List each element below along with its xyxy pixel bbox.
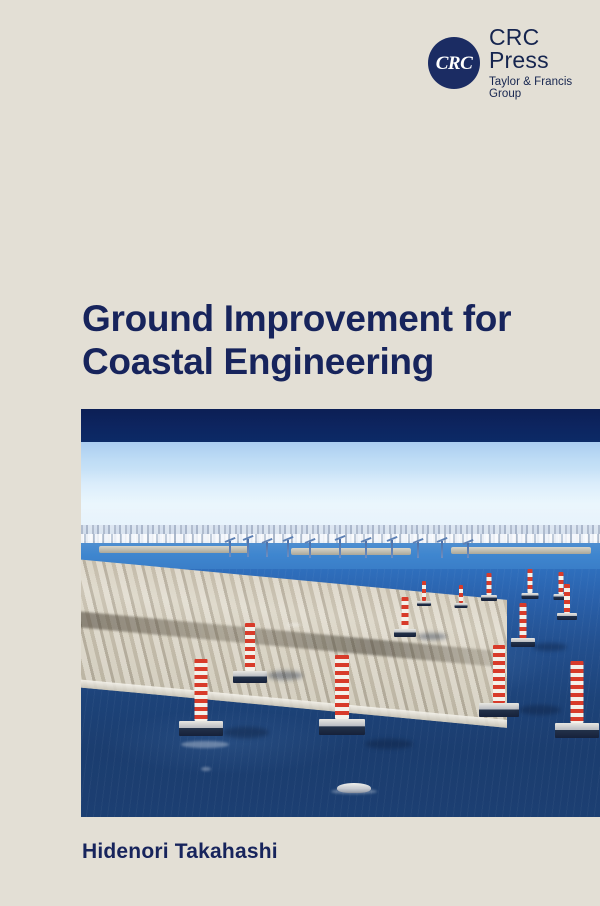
rig-hull bbox=[557, 613, 577, 620]
compaction-rig-right-edge bbox=[555, 661, 599, 747]
publisher-wordmark: CRC Press Taylor & Francis Group bbox=[489, 26, 600, 100]
rig-hull bbox=[555, 723, 599, 738]
small-boat-wake bbox=[331, 789, 377, 794]
port-crane-10 bbox=[441, 541, 443, 558]
compaction-rig-front-center bbox=[319, 655, 365, 745]
rig-tower bbox=[245, 623, 255, 671]
photo-top-navy-band bbox=[81, 409, 600, 442]
water-glint-1 bbox=[201, 767, 211, 771]
rig-wake bbox=[181, 741, 229, 748]
rig-tower bbox=[520, 603, 527, 638]
rig-shadow bbox=[223, 727, 269, 738]
rig-hull bbox=[417, 601, 431, 606]
rig-shadow bbox=[417, 633, 447, 640]
port-crane-6 bbox=[339, 539, 341, 558]
book-title-line-2: Coastal Engineering bbox=[82, 341, 552, 384]
book-title: Ground Improvement for Coastal Engineeri… bbox=[82, 298, 552, 384]
port-crane-4 bbox=[287, 540, 289, 557]
port-crane-3 bbox=[266, 542, 268, 557]
port-crane-8 bbox=[391, 540, 393, 558]
rig-tower bbox=[195, 659, 208, 721]
rig-hull bbox=[394, 629, 416, 637]
rig-tower bbox=[564, 584, 570, 613]
compaction-rig-far-4 bbox=[417, 581, 431, 609]
rig-tower bbox=[487, 573, 492, 595]
cover-photograph bbox=[81, 409, 600, 817]
book-cover: CRC CRC Press Taylor & Francis Group Gro… bbox=[0, 0, 600, 906]
rig-tower bbox=[402, 597, 409, 629]
rig-shadow bbox=[365, 739, 413, 749]
photograph-scene bbox=[81, 409, 600, 817]
rig-shadow bbox=[267, 671, 303, 680]
far-island-3 bbox=[451, 547, 591, 554]
crc-circle-logo-icon: CRC bbox=[428, 37, 480, 89]
compaction-rig-front-left bbox=[179, 659, 223, 745]
compaction-rig-far-1 bbox=[481, 573, 497, 603]
rig-hull bbox=[481, 595, 497, 601]
compaction-rig-mid-2 bbox=[511, 603, 535, 651]
rig-tower bbox=[335, 655, 349, 719]
rig-hull bbox=[319, 719, 365, 735]
rig-hull bbox=[233, 671, 267, 683]
far-island-1 bbox=[99, 546, 249, 553]
rig-tower bbox=[422, 581, 426, 601]
rig-hull bbox=[479, 703, 519, 717]
rig-tower bbox=[493, 645, 505, 703]
publisher-name: CRC Press bbox=[489, 26, 600, 72]
water-glint-2 bbox=[287, 623, 301, 627]
port-crane-1 bbox=[229, 541, 231, 557]
rig-hull bbox=[521, 593, 538, 599]
compaction-rig-far-2 bbox=[521, 569, 538, 601]
port-crane-11 bbox=[467, 543, 469, 558]
port-crane-5 bbox=[309, 542, 311, 558]
compaction-rig-far-5 bbox=[454, 585, 467, 611]
crc-monogram-text: CRC bbox=[428, 38, 480, 90]
author-name: Hidenori Takahashi bbox=[82, 840, 278, 864]
port-crane-9 bbox=[417, 542, 419, 558]
rig-tower bbox=[459, 585, 463, 603]
compaction-rig-front-right bbox=[479, 645, 519, 725]
compaction-rig-mid-1 bbox=[394, 597, 416, 641]
publisher-logo: CRC CRC Press Taylor & Francis Group bbox=[428, 26, 600, 100]
rig-hull bbox=[454, 603, 467, 608]
rig-hull bbox=[179, 721, 223, 736]
rig-shadow bbox=[533, 643, 567, 651]
rig-tower bbox=[571, 661, 584, 723]
book-title-line-1: Ground Improvement for bbox=[82, 298, 552, 341]
port-crane-2 bbox=[247, 539, 249, 557]
rig-tower bbox=[527, 569, 532, 593]
compaction-rig-mid-3 bbox=[557, 584, 577, 624]
compaction-rig-shoreline bbox=[233, 623, 267, 689]
port-crane-7 bbox=[365, 541, 367, 558]
publisher-imprint: Taylor & Francis Group bbox=[489, 77, 600, 100]
